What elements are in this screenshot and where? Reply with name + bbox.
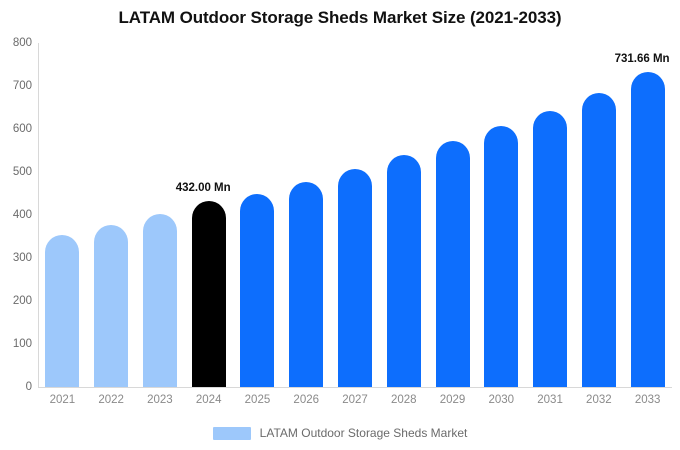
bar-shape: [45, 235, 79, 387]
x-axis-tick-label-2032: 2032: [571, 394, 627, 406]
y-axis-tick-label: 100: [0, 338, 32, 350]
y-axis-tick-label: 200: [0, 295, 32, 307]
bar-shape: [338, 169, 372, 387]
y-axis: 0100200300400500600700800: [0, 0, 32, 450]
x-axis-tick-label-2029: 2029: [425, 394, 481, 406]
legend-swatch-latam-outdoor-storage-sheds-market: [213, 427, 251, 440]
x-axis-tick-label-2024: 2024: [181, 394, 237, 406]
y-axis-tick-label: 300: [0, 252, 32, 264]
bar-shape: [484, 126, 518, 387]
bar-shape: [94, 225, 128, 387]
chart-legend: LATAM Outdoor Storage Sheds Market: [0, 426, 680, 440]
x-axis-tick-label-2030: 2030: [473, 394, 529, 406]
y-axis-tick-label: 700: [0, 80, 32, 92]
x-axis-tick-label-2028: 2028: [376, 394, 432, 406]
y-axis-tick-label: 0: [0, 381, 32, 393]
bar-shape: [436, 141, 470, 387]
x-axis-line: [38, 387, 672, 388]
bar-chart: LATAM Outdoor Storage Sheds Market Size …: [0, 0, 680, 450]
bar-shape: [240, 194, 274, 388]
x-axis-tick-label-2027: 2027: [327, 394, 383, 406]
chart-title: LATAM Outdoor Storage Sheds Market Size …: [0, 8, 680, 28]
x-axis-tick-label-2026: 2026: [278, 394, 334, 406]
bar-shape: [143, 214, 177, 387]
bar-2021[interactable]: [45, 235, 79, 387]
bar-2029[interactable]: [436, 141, 470, 387]
bar-2022[interactable]: [94, 225, 128, 387]
bar-2026[interactable]: [289, 182, 323, 387]
x-axis-tick-label-2025: 2025: [229, 394, 285, 406]
bar-2027[interactable]: [338, 169, 372, 387]
bar-2025[interactable]: [240, 194, 274, 388]
bar-2032[interactable]: [582, 93, 616, 387]
x-axis-tick-label-2022: 2022: [83, 394, 139, 406]
bar-value-label-2033: 731.66 Mn: [615, 53, 670, 65]
bar-2024[interactable]: [192, 201, 226, 387]
plot-area: [38, 43, 672, 387]
bar-shape: [387, 155, 421, 387]
bar-2031[interactable]: [533, 111, 567, 387]
y-axis-tick-label: 500: [0, 166, 32, 178]
x-axis-tick-label-2033: 2033: [620, 394, 676, 406]
bar-shape: [533, 111, 567, 387]
bar-shape: [582, 93, 616, 387]
x-axis-tick-label-2021: 2021: [34, 394, 90, 406]
y-axis-tick-label: 400: [0, 209, 32, 221]
bar-2023[interactable]: [143, 214, 177, 387]
bar-shape: [631, 72, 665, 387]
x-axis-tick-label-2031: 2031: [522, 394, 578, 406]
bar-2030[interactable]: [484, 126, 518, 387]
bar-value-label-2024: 432.00 Mn: [176, 182, 231, 194]
bar-shape: [192, 201, 226, 387]
y-axis-tick-label: 600: [0, 123, 32, 135]
y-axis-tick-label: 800: [0, 37, 32, 49]
x-axis-tick-label-2023: 2023: [132, 394, 188, 406]
legend-label-latam-outdoor-storage-sheds-market: LATAM Outdoor Storage Sheds Market: [260, 426, 468, 440]
bar-2028[interactable]: [387, 155, 421, 387]
bar-shape: [289, 182, 323, 387]
bar-2033[interactable]: [631, 72, 665, 387]
